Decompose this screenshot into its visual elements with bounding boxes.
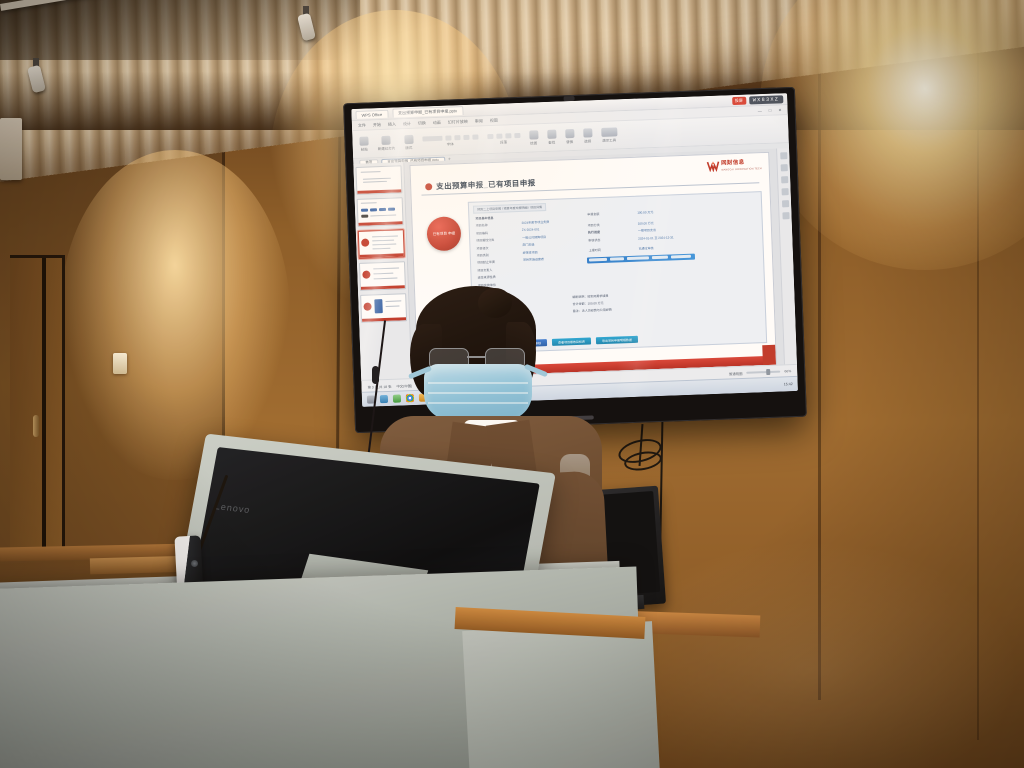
ribbon-group-paragraph[interactable]: 段落 (487, 132, 520, 145)
menu-item-file[interactable]: 文件 (358, 122, 366, 128)
light-switch[interactable] (113, 353, 127, 374)
form-label: 项目负责人 (477, 268, 495, 273)
font-size-box[interactable] (445, 135, 451, 140)
ribbon-label: 段落 (500, 140, 507, 145)
paragraph-controls (487, 132, 520, 138)
menu-item-review[interactable]: 审阅 (475, 118, 483, 124)
window-tab-document[interactable]: 支出预算申报_已有项目申报.pptx (392, 106, 463, 118)
font-name-box[interactable] (422, 135, 442, 141)
breadcrumb: 预算二上项目申报 / 预算年度申报明细 / 项目详情 (473, 203, 546, 214)
thumb-accent-bar (360, 253, 404, 258)
cloud-icon[interactable] (782, 212, 789, 219)
form-label: 项目编码 (476, 231, 494, 236)
form-value: 一般公共预算项目 (522, 235, 550, 240)
replace-icon (565, 128, 574, 137)
ribbon-label: 粘贴 (361, 147, 368, 152)
window-close-button[interactable]: ✕ (778, 107, 782, 112)
align-center-icon[interactable] (496, 133, 502, 138)
ribbon-group-find[interactable]: 查找 (547, 129, 557, 145)
form-label: 审核状态 (588, 238, 600, 242)
brand-tagline: WANGCAI INFORMATION TECH (721, 167, 762, 171)
text-tool-icon[interactable] (781, 200, 788, 207)
form-label: 申报金额 (587, 212, 599, 216)
taskbar-clock[interactable]: 15:42 (784, 382, 793, 386)
paste-icon (359, 136, 368, 145)
screen-share-code: WX83XZ (749, 95, 784, 104)
align-left-icon[interactable] (487, 133, 493, 138)
template-icon[interactable] (781, 176, 788, 183)
form-labels-right-column: 申报金额 项目分类 执行进度 审核状态 上报时间 (587, 212, 600, 253)
menu-item-view[interactable]: 视图 (490, 117, 498, 123)
shapes-icon (529, 130, 538, 139)
zoom-slider[interactable] (746, 371, 780, 374)
glasses-bridge (467, 356, 485, 358)
face-mask (424, 364, 532, 420)
form-value: ZX-2024-001 (522, 227, 550, 232)
italic-icon[interactable] (463, 134, 469, 139)
form-label: 项目类别 (477, 253, 495, 258)
slide-thumbnail[interactable] (355, 165, 402, 195)
conference-room-photo: WPS Office 支出预算申报_已有项目申报.pptx 投屏 WX83XZ … (0, 0, 1024, 768)
status-bar-right: 普通视图 66% (729, 369, 792, 376)
zoom-slider-handle[interactable] (766, 369, 770, 375)
slide-corner-tab (762, 345, 776, 365)
slide-title-text: 支出预算申报_已有项目申报 (436, 177, 536, 192)
ceiling-mic-head-icon (372, 366, 379, 384)
menu-item-design[interactable]: 设计 (403, 120, 411, 126)
ribbon-label: 演示工具 (602, 138, 616, 144)
menu-item-animation[interactable]: 动画 (433, 119, 441, 125)
form-value: 2024-01-01 至 2024-12-31 (638, 235, 673, 240)
form-section-heading: 项目基本信息 (475, 216, 493, 221)
ribbon-label: 新建幻灯片 (378, 146, 396, 152)
ribbon-group-drawing[interactable]: 绘图 (529, 130, 539, 146)
mic-mute-button[interactable] (191, 560, 198, 567)
w-logo-icon (706, 160, 719, 171)
new-slide-icon (382, 135, 391, 144)
menu-item-slideshow[interactable]: 幻灯片放映 (448, 118, 468, 125)
form-values-right-column: 100.00 万元 100.00 万元 一般项目支出 2024-01-01 至 … (637, 209, 674, 251)
form-value: 一般项目支出 (638, 228, 673, 233)
ribbon-label: 版式 (405, 145, 412, 150)
ribbon-group-select[interactable]: 选择 (583, 128, 593, 144)
thumb-badge-icon (361, 239, 369, 247)
door-handle-icon[interactable] (33, 415, 39, 437)
bullet-list-icon[interactable] (514, 132, 520, 137)
hair-bun (478, 288, 512, 318)
podium-side-panel (462, 621, 660, 768)
chart-icon[interactable] (781, 188, 788, 195)
form-label: 项目起止年度 (477, 260, 495, 265)
form-label: 项目分类 (588, 223, 600, 227)
menu-item-home[interactable]: 开始 (373, 122, 381, 128)
title-bullet-icon (425, 183, 432, 190)
presenter-tools-icon (601, 127, 617, 137)
search-icon (547, 129, 556, 138)
slide-thumbnail[interactable] (357, 197, 404, 227)
thumb-accent-bar (358, 221, 402, 226)
zoom-level[interactable]: 66% (784, 369, 791, 373)
form-value: 2024年度专项业务费 (522, 220, 550, 225)
form-label: 上报时间 (589, 248, 601, 252)
ribbon-group-replace[interactable]: 替换 (565, 128, 575, 144)
thumb-badge-icon (362, 271, 370, 279)
underline-icon[interactable] (472, 134, 478, 139)
view-mode-label[interactable]: 普通视图 (729, 370, 743, 375)
ribbon-label: 选择 (584, 139, 591, 144)
align-right-icon[interactable] (505, 133, 511, 138)
select-icon (583, 128, 592, 137)
form-label: 项目级次 (476, 246, 494, 251)
ribbon-group-new-slide[interactable]: 新建幻灯片 (377, 135, 395, 152)
window-minimize-button[interactable]: — (758, 108, 762, 113)
thumb-badge-icon (363, 302, 371, 310)
menu-item-insert[interactable]: 插入 (388, 121, 396, 127)
thumb-accent-bar (357, 189, 401, 194)
form-value: 部门本级 (522, 242, 550, 247)
titlebar-right: 投屏 WX83XZ (732, 95, 784, 105)
ribbon-label: 字体 (447, 142, 454, 147)
form-value: 经常性项目 (523, 249, 551, 254)
form-label: 执行进度 (588, 230, 600, 234)
ribbon-label: 查找 (548, 140, 555, 145)
window-maximize-button[interactable]: □ (769, 108, 772, 113)
design-ideas-icon[interactable] (780, 152, 787, 159)
menu-item-transition[interactable]: 切换 (418, 120, 426, 126)
layout-icon (404, 134, 413, 143)
ribbon-group-font[interactable]: 字体 (422, 134, 478, 148)
form-values-left-column: 2024年度专项业务费 ZX-2024-001 一般公共预算项目 部门本级 经常… (522, 220, 551, 262)
font-controls (422, 134, 478, 141)
media-library-icon[interactable] (780, 164, 787, 171)
ribbon-label: 绘图 (530, 141, 537, 146)
room-door[interactable] (10, 255, 65, 554)
ribbon-group-presenter-tools[interactable]: 演示工具 (601, 127, 618, 144)
form-label: 项目名称 (476, 223, 494, 228)
ribbon-group-layout[interactable]: 版式 (404, 134, 414, 150)
wall-vent (0, 118, 22, 180)
brand-logo: 网财信息 WANGCAI INFORMATION TECH (706, 157, 762, 173)
form-label: 项目属性分类 (476, 238, 494, 243)
form-value: 已通过审核 (639, 246, 674, 251)
bold-icon[interactable] (454, 135, 460, 140)
ribbon-label: 替换 (566, 139, 573, 144)
slide-badge: 已有项目 申报 (426, 216, 461, 251)
form-value: 100.00 万元 (638, 220, 673, 225)
slide-thumbnail-selected[interactable] (358, 229, 405, 259)
form-value: 100.00 万元 (637, 209, 672, 214)
form-value: 项目实施进度表 (523, 257, 551, 262)
ribbon-group-paste[interactable]: 粘贴 (359, 136, 369, 152)
selected-table-row[interactable] (587, 254, 695, 263)
door-edge (42, 258, 46, 550)
brand-name: 网财信息 (721, 160, 745, 167)
screen-share-badge: 投屏 (732, 96, 746, 105)
form-label: 资金来源性质 (478, 275, 496, 280)
window-tab-app[interactable]: WPS Office (355, 109, 388, 118)
